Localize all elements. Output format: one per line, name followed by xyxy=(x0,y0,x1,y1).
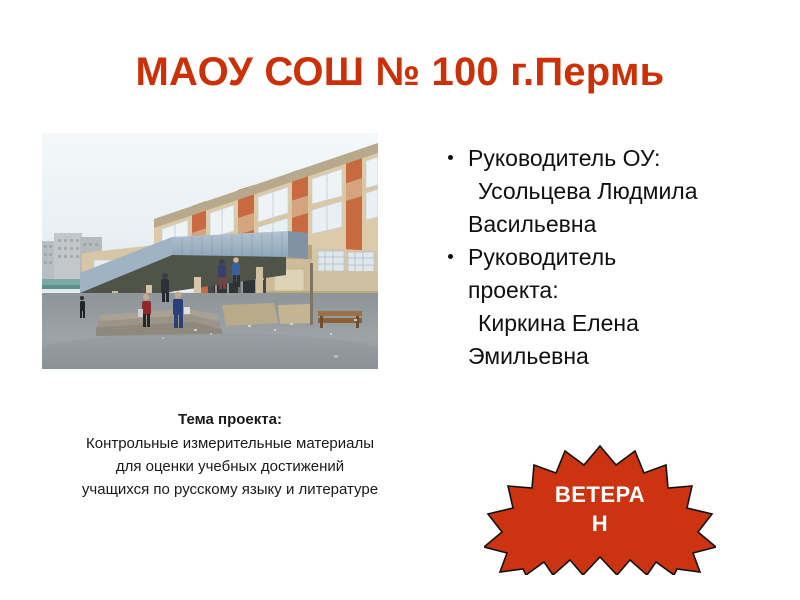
list-item: Руководитель ОУ: Усольцева Людмила Васил… xyxy=(440,142,770,241)
list-item-line: Эмильевна xyxy=(468,340,770,373)
bullet-dot-icon xyxy=(448,254,453,259)
school-photo xyxy=(42,133,378,369)
presentation-slide: МАОУ СОШ № 100 г.Пермь xyxy=(0,0,800,600)
list-item-line: Руководитель ОУ: xyxy=(468,145,660,171)
list-item-line: Усольцева Людмила xyxy=(468,175,770,208)
list-item-line: проекта: xyxy=(468,274,770,307)
list-item-line: Руководитель xyxy=(468,244,616,270)
caption-heading: Тема проекта: xyxy=(20,408,440,431)
info-list: Руководитель ОУ: Усольцева Людмила Васил… xyxy=(440,142,770,373)
project-topic-caption: Тема проекта: Контрольные измерительные … xyxy=(20,408,440,501)
list-item: Руководитель проекта: Киркина Елена Эмил… xyxy=(440,241,770,373)
caption-line: для оценки учебных достижений xyxy=(20,455,440,478)
status-badge: ВЕТЕРА Н xyxy=(484,443,716,575)
list-item-line: Васильевна xyxy=(468,208,770,241)
bullet-dot-icon xyxy=(448,155,453,160)
school-photo-image xyxy=(42,133,378,369)
caption-line: учащихся по русскому языку и литературе xyxy=(20,478,440,501)
starburst-icon xyxy=(484,443,716,575)
page-title: МАОУ СОШ № 100 г.Пермь xyxy=(0,50,800,94)
list-item-line: Киркина Елена xyxy=(468,307,770,340)
caption-line: Контрольные измерительные материалы xyxy=(20,432,440,455)
